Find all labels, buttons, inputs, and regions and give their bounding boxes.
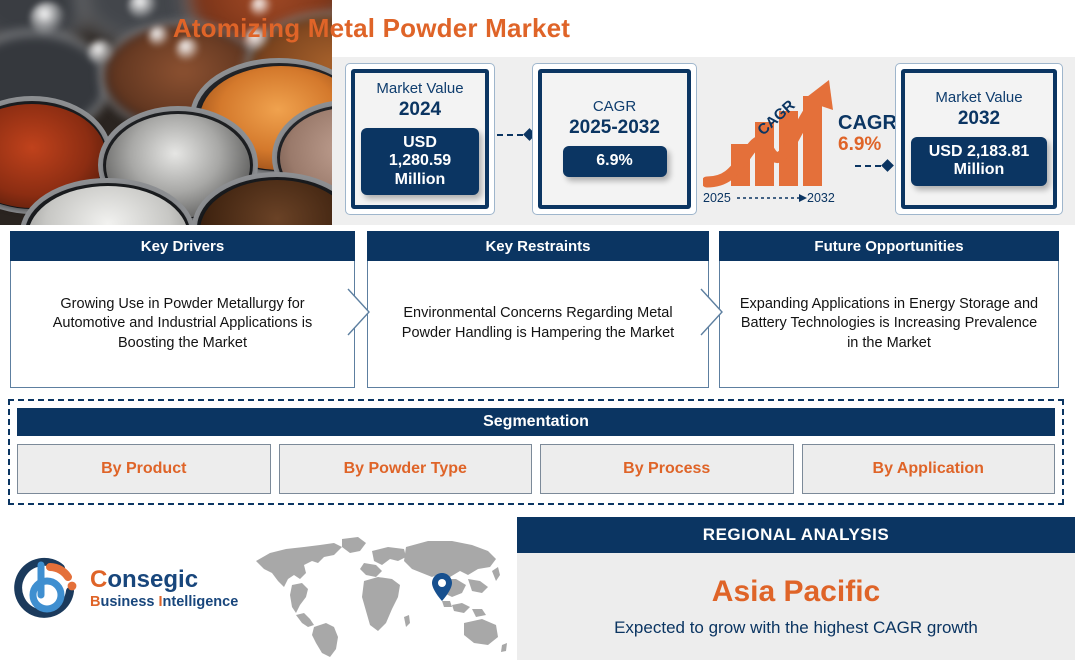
- panel-text: Expanding Applications in Energy Storage…: [734, 295, 1044, 354]
- insight-panels: Key Drivers Growing Use in Powder Metall…: [0, 231, 1075, 388]
- panel-title: Key Restraints: [367, 231, 709, 261]
- regional-analysis-card: REGIONAL ANALYSIS Asia Pacific Expected …: [517, 517, 1075, 660]
- segmentation-cell-by-application[interactable]: By Application: [802, 444, 1056, 494]
- stat-year: 2032: [958, 108, 1000, 130]
- growth-chart-icon: CAGR 2025 2032: [703, 78, 848, 206]
- regional-analysis-note: Expected to grow with the highest CAGR g…: [614, 618, 978, 638]
- brand-logo: Consegic Business Intelligence: [14, 555, 238, 623]
- segmentation-cell-by-product[interactable]: By Product: [17, 444, 271, 494]
- cagr-callout: CAGR 6.9%: [838, 113, 897, 156]
- regional-analysis-title: REGIONAL ANALYSIS: [517, 517, 1075, 553]
- logo-name-initial: C: [90, 566, 107, 593]
- panel-key-restraints: Key Restraints Environmental Concerns Re…: [367, 231, 709, 388]
- map-location-pin-icon: [432, 573, 452, 601]
- stat-card-cagr: CAGR 2025-2032 6.9%: [532, 63, 697, 215]
- logo-tagline-usiness: usiness: [100, 594, 158, 610]
- cagr-callout-value: 6.9%: [838, 134, 897, 156]
- consegic-logo-icon: [14, 555, 82, 623]
- stat-year: 2024: [399, 99, 441, 121]
- segmentation-cell-by-powder-type[interactable]: By Powder Type: [279, 444, 533, 494]
- page-title: Atomizing Metal Powder Market: [0, 13, 743, 44]
- regional-analysis-body: Asia Pacific Expected to grow with the h…: [517, 553, 1075, 660]
- end-year-label: 2032: [807, 191, 835, 205]
- connector-dashed-2: [855, 161, 892, 170]
- connector-diamond-icon: [881, 159, 894, 172]
- world-map-icon: [246, 535, 508, 657]
- stat-value-pill: 6.9%: [563, 146, 667, 176]
- panel-key-drivers: Key Drivers Growing Use in Powder Metall…: [10, 231, 355, 388]
- connector-dashed-1: [497, 130, 534, 139]
- logo-tagline-b: B: [90, 594, 100, 610]
- panel-title: Future Opportunities: [719, 231, 1059, 261]
- top-band: Atomizing Metal Powder Market Market Val…: [0, 0, 1075, 225]
- stat-label: Market Value: [376, 81, 463, 98]
- stat-label: Market Value: [935, 90, 1022, 107]
- segmentation-title: Segmentation: [17, 408, 1055, 436]
- chevron-right-icon-2: [700, 288, 726, 336]
- footer: Consegic Business Intelligence: [0, 517, 1075, 660]
- connector-line: [497, 134, 523, 136]
- panel-text: Environmental Concerns Regarding Metal P…: [382, 304, 694, 343]
- segmentation-section: Segmentation By Product By Powder Type B…: [8, 399, 1064, 505]
- chevron-right-icon-1: [347, 288, 373, 336]
- panel-body: Expanding Applications in Energy Storage…: [719, 261, 1059, 388]
- cagr-callout-title: CAGR: [838, 113, 897, 134]
- panel-future-opportunities: Future Opportunities Expanding Applicati…: [719, 231, 1059, 388]
- stat-card-market-value-2032: Market Value 2032 USD 2,183.81 Million: [895, 63, 1063, 215]
- panel-title: Key Drivers: [10, 231, 355, 261]
- logo-name-rest: onsegic: [107, 566, 198, 593]
- logo-tagline-ntelligence: ntelligence: [163, 594, 239, 610]
- regional-analysis-region: Asia Pacific: [712, 575, 880, 609]
- connector-line: [855, 165, 881, 167]
- stat-value-pill: USD 1,280.59 Million: [361, 128, 479, 195]
- panel-body: Environmental Concerns Regarding Metal P…: [367, 261, 709, 388]
- panel-body: Growing Use in Powder Metallurgy for Aut…: [10, 261, 355, 388]
- stat-label: CAGR: [593, 99, 636, 116]
- brand-logo-text: Consegic Business Intelligence: [90, 567, 238, 611]
- infographic-page: Atomizing Metal Powder Market Market Val…: [0, 0, 1075, 660]
- stat-card-market-value-2024: Market Value 2024 USD 1,280.59 Million: [345, 63, 495, 215]
- segmentation-cells: By Product By Powder Type By Process By …: [17, 444, 1055, 494]
- panel-text: Growing Use in Powder Metallurgy for Aut…: [25, 295, 340, 354]
- stat-value-pill: USD 2,183.81 Million: [911, 137, 1047, 186]
- stat-period: 2025-2032: [569, 117, 660, 139]
- segmentation-cell-by-process[interactable]: By Process: [540, 444, 794, 494]
- start-year-label: 2025: [703, 191, 731, 205]
